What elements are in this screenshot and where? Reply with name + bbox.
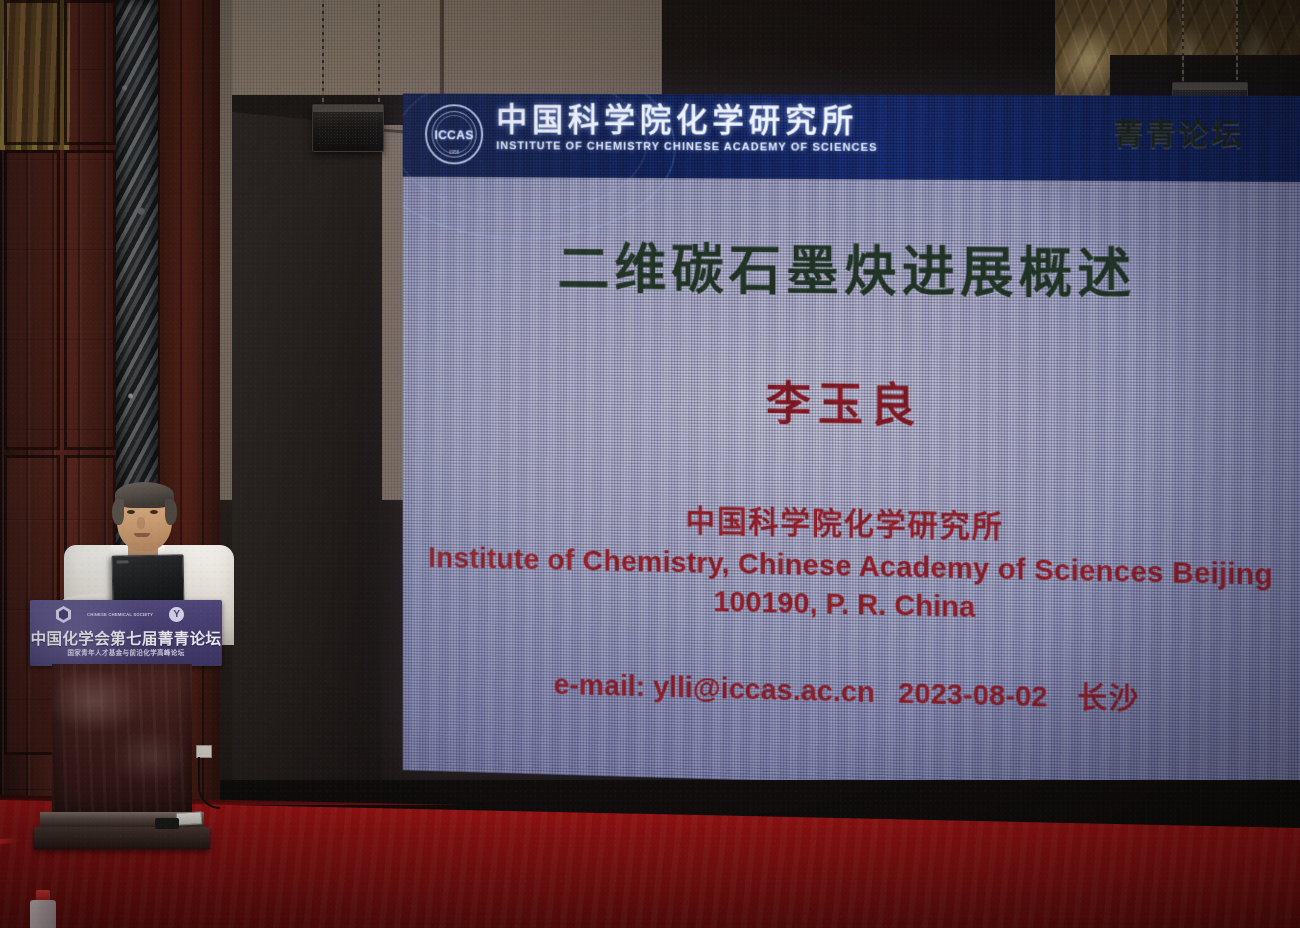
podium-body <box>52 664 192 814</box>
led-panel: ICCAS 1956 中国科学院化学研究所 INSTITUTE OF CHEMI… <box>403 93 1300 796</box>
podium-banner: CHINESE CHEMICAL SOCIETY 中国化学会第七届菁青论坛 国家… <box>30 600 222 666</box>
slide-date: 2023-08-02 <box>898 677 1047 713</box>
slide-contact-line: e-mail: ylli@iccas.ac.cn 2023-08-02 长沙 <box>403 656 1300 722</box>
wood-panel-frame <box>4 150 60 450</box>
person-eye-left <box>127 510 135 514</box>
speaker-chain <box>322 0 324 108</box>
person-mouth <box>134 533 150 537</box>
person-hair-side-left <box>112 499 124 525</box>
secondary-org-logo-icon <box>169 607 184 622</box>
ceiling-speaker-left <box>312 104 384 152</box>
podium-banner-subtitle: 国家青年人才基金与前沿化学高峰论坛 <box>30 647 222 657</box>
person-hair-side-right <box>165 499 177 525</box>
ccs-logo-text: CHINESE CHEMICAL SOCIETY <box>87 612 153 618</box>
speaker-chain <box>1236 0 1238 80</box>
person-eyebrow-right <box>149 505 159 507</box>
podium-logo-row: CHINESE CHEMICAL SOCIETY <box>56 606 184 623</box>
bottle-body <box>30 900 56 928</box>
slide-header-band: ICCAS 1956 中国科学院化学研究所 INSTITUTE OF CHEMI… <box>403 93 1300 182</box>
speaker-grille <box>1173 83 1247 90</box>
slide-body: 二维碳石墨炔进展概述 李玉良 中国科学院化学研究所 Institute of C… <box>403 177 1300 796</box>
led-presentation-screen[interactable]: ICCAS 1956 中国科学院化学研究所 INSTITUTE OF CHEMI… <box>403 93 1300 796</box>
iccas-logo-year: 1956 <box>427 150 481 156</box>
forum-badge-label: 菁青论坛 <box>1114 109 1245 153</box>
speaker-chain <box>1182 0 1184 84</box>
speaker-chain <box>378 0 380 102</box>
person-eyebrow-left <box>126 505 136 507</box>
slide-email: e-mail: ylli@iccas.ac.cn <box>554 669 875 709</box>
iccas-logo-text: ICCAS <box>434 127 473 142</box>
power-adapter-box <box>176 811 203 825</box>
podium: CHINESE CHEMICAL SOCIETY 中国化学会第七届菁青论坛 国家… <box>30 600 222 865</box>
podium-banner-title: 中国化学会第七届菁青论坛 <box>30 627 222 649</box>
person-nose <box>137 517 145 529</box>
wood-panel-frame <box>64 150 116 450</box>
wood-panel-frame <box>64 0 116 145</box>
speaker-grille <box>313 105 383 112</box>
water-bottle-icon <box>30 890 56 928</box>
iccas-logo-icon: ICCAS 1956 <box>425 104 483 164</box>
wood-panel-frame <box>4 0 60 145</box>
header-org-text: 中国科学院化学研究所 INSTITUTE OF CHEMISTRY CHINES… <box>496 100 877 155</box>
conference-photo-scene: ICCAS 1956 中国科学院化学研究所 INSTITUTE OF CHEMI… <box>0 0 1300 928</box>
slide-title: 二维碳石墨炔进展概述 <box>403 223 1300 310</box>
slide-city: 长沙 <box>1077 682 1140 716</box>
header-org-en: INSTITUTE OF CHEMISTRY CHINESE ACADEMY O… <box>496 141 877 155</box>
podium-base-lower <box>34 827 210 849</box>
person-eye-right <box>150 510 158 514</box>
header-org-cn: 中国科学院化学研究所 <box>496 100 877 142</box>
stage-masking-flat <box>232 112 382 847</box>
cable-connector <box>155 818 179 829</box>
slide-speaker-name: 李玉良 <box>403 360 1300 441</box>
chinese-chemical-society-logo-icon <box>56 606 71 623</box>
